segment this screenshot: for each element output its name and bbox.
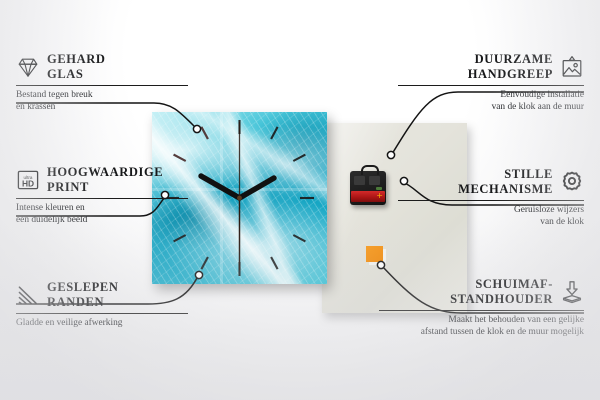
gear-icon: [560, 170, 584, 194]
product-infographic: +: [0, 0, 600, 400]
feature-divider: [16, 198, 188, 199]
foam-spacer-arrow-icon: [560, 280, 584, 304]
feature-divider: [379, 310, 584, 311]
feature-title: GEHARD GLAS: [47, 52, 105, 82]
wire-node-schuimaf-standhouder: [377, 261, 384, 268]
feature-divider: [398, 85, 584, 86]
feature-title-line2: PRINT: [47, 180, 163, 195]
ultra-hd-badge-icon: ultra HD: [16, 168, 40, 192]
wire-node-geslepen-randen: [195, 271, 202, 278]
feature-title-line2: HANDGREEP: [468, 67, 553, 82]
feature-header: ultra HD HOOGWAARDIGE PRINT: [16, 165, 188, 195]
feature-title-line2: RANDEN: [47, 295, 119, 310]
feature-desc-line2: afstand tussen de klok en de muur mogeli…: [379, 327, 584, 339]
feature-duurzame-handgreep[interactable]: DUURZAME HANDGREEP Eenvoudige installati…: [398, 52, 584, 113]
polished-edge-lines-icon: [16, 283, 40, 307]
feature-header: GEHARD GLAS: [16, 52, 188, 82]
feature-desc-line2: van de klok aan de muur: [398, 102, 584, 114]
feature-gehard-glas[interactable]: GEHARD GLAS Bestand tegen breuk en krass…: [16, 52, 188, 113]
wire-node-duurzame-handgreep: [387, 151, 394, 158]
hanging-picture-icon: [560, 55, 584, 79]
feature-desc-line2: een duidelijk beeld: [16, 215, 188, 227]
feature-header: SCHUIMAF- STANDHOUDER: [379, 277, 584, 307]
wire-node-gehard-glas: [193, 125, 200, 132]
feature-description: Eenvoudige installatie van de klok aan d…: [398, 90, 584, 113]
feature-desc-line1: Geruisloze wijzers: [398, 205, 584, 217]
feature-title-line2: MECHANISME: [458, 182, 553, 197]
hd-label: HD: [22, 178, 34, 188]
feature-title: SCHUIMAF- STANDHOUDER: [450, 277, 553, 307]
feature-desc-line2: en krassen: [16, 102, 188, 114]
feature-title-line1: DUURZAME: [468, 52, 553, 67]
feature-title: STILLE MECHANISME: [458, 167, 553, 197]
feature-title-line1: HOOGWAARDIGE: [47, 165, 163, 180]
feature-header: STILLE MECHANISME: [398, 167, 584, 197]
feature-title-line2: GLAS: [47, 67, 105, 82]
feature-title: DUURZAME HANDGREEP: [468, 52, 553, 82]
feature-desc-line1: Maakt het behouden van een gelijke: [379, 315, 584, 327]
feature-title: GESLEPEN RANDEN: [47, 280, 119, 310]
feature-schuimaf-standhouder[interactable]: SCHUIMAF- STANDHOUDER Maakt het behouden…: [379, 277, 584, 338]
feature-desc-line1: Gladde en veilige afwerking: [16, 318, 188, 330]
feature-description: Maakt het behouden van een gelijke afsta…: [379, 315, 584, 338]
feature-title: HOOGWAARDIGE PRINT: [47, 165, 163, 195]
feature-title-line2: STANDHOUDER: [450, 292, 553, 307]
feature-divider: [16, 85, 188, 86]
feature-stille-mechanisme[interactable]: STILLE MECHANISME Geruisloze wijzers van…: [398, 167, 584, 228]
feature-description: Gladde en veilige afwerking: [16, 318, 188, 330]
feature-divider: [398, 200, 584, 201]
diamond-icon: [16, 55, 40, 79]
feature-title-line1: GESLEPEN: [47, 280, 119, 295]
feature-desc-line1: Eenvoudige installatie: [398, 90, 584, 102]
feature-desc-line2: van de klok: [398, 217, 584, 229]
feature-hoogwaardige-print[interactable]: ultra HD HOOGWAARDIGE PRINT Intense kleu…: [16, 165, 188, 226]
feature-title-line1: STILLE: [458, 167, 553, 182]
feature-title-line1: GEHARD: [47, 52, 105, 67]
feature-header: GESLEPEN RANDEN: [16, 280, 188, 310]
feature-title-line1: SCHUIMAF-: [450, 277, 553, 292]
feature-description: Intense kleuren en een duidelijk beeld: [16, 203, 188, 226]
feature-divider: [16, 313, 188, 314]
feature-desc-line1: Intense kleuren en: [16, 203, 188, 215]
feature-description: Geruisloze wijzers van de klok: [398, 205, 584, 228]
feature-header: DUURZAME HANDGREEP: [398, 52, 584, 82]
feature-geslepen-randen[interactable]: GESLEPEN RANDEN Gladde en veilige afwerk…: [16, 280, 188, 330]
feature-description: Bestand tegen breuk en krassen: [16, 90, 188, 113]
feature-desc-line1: Bestand tegen breuk: [16, 90, 188, 102]
